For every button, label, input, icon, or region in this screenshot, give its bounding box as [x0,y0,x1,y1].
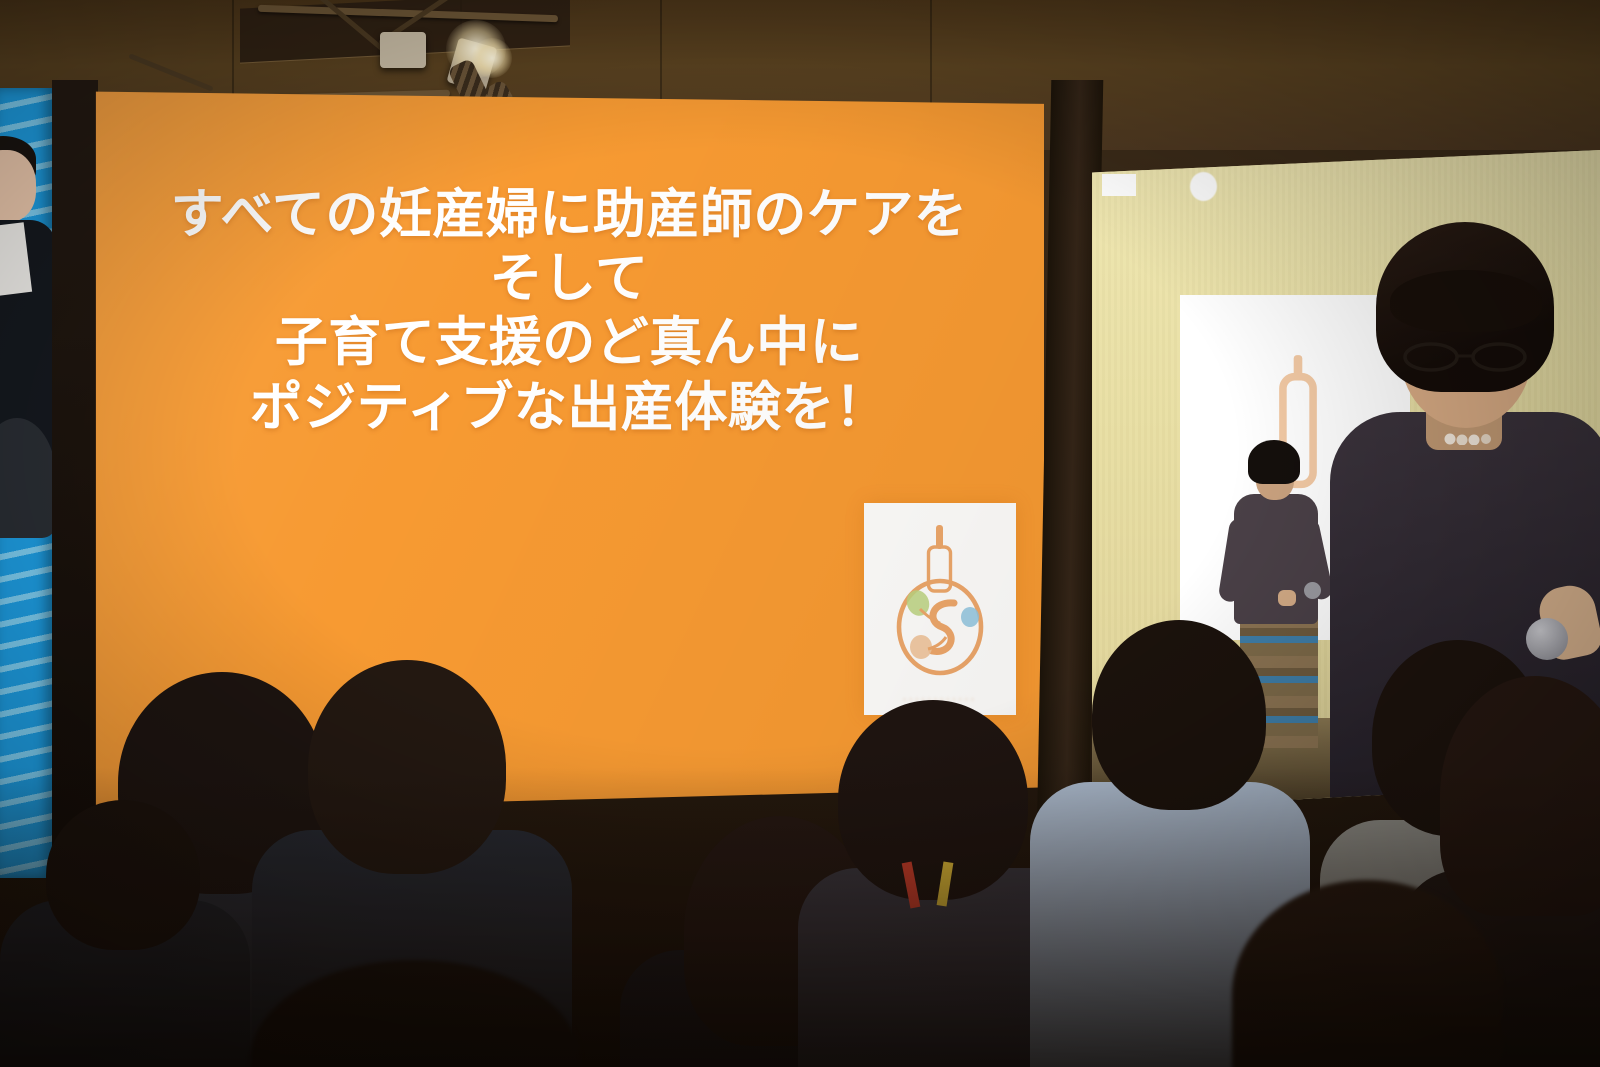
slide-line-1: すべての妊産婦に助産師のケアを [94,184,1044,247]
background-presenter-hand [1278,590,1296,606]
slide-line-2: そして [94,247,1044,312]
left-screen-chair [0,418,52,538]
backdrop-white-circle [1190,172,1217,201]
light-glow [472,38,512,78]
backdrop-white-rectangle [1102,174,1136,196]
background-presenter-hair [1248,440,1300,484]
organization-logo-icon [880,517,1000,677]
slide-line-3: 子育て支援のど真ん中に [94,311,1044,376]
screen-divider-left [52,80,98,880]
background-presenter-body [1234,494,1318,624]
stage-light-fixture [380,32,426,68]
left-side-screen [0,88,52,878]
eyeglasses-icon [1402,342,1528,372]
pearl-necklace-icon [1442,432,1500,445]
background-presenter-microphone [1304,582,1321,599]
slide-text-block: すべての妊産婦に助産師のケアを そして 子育て支援のど真ん中に ポジティブな出産… [94,184,1044,441]
slide-logo-card: ············ [864,503,1016,715]
foreground-presenter-bangs [1390,270,1542,332]
slide-line-4: ポジティブな出産体験を！ [94,376,1044,441]
presentation-hall-scene: すべての妊産婦に助産師のケアを そして 子育て支援のど真ん中に ポジティブな出産… [0,0,1600,1067]
foreground-presenter-microphone [1526,618,1568,660]
